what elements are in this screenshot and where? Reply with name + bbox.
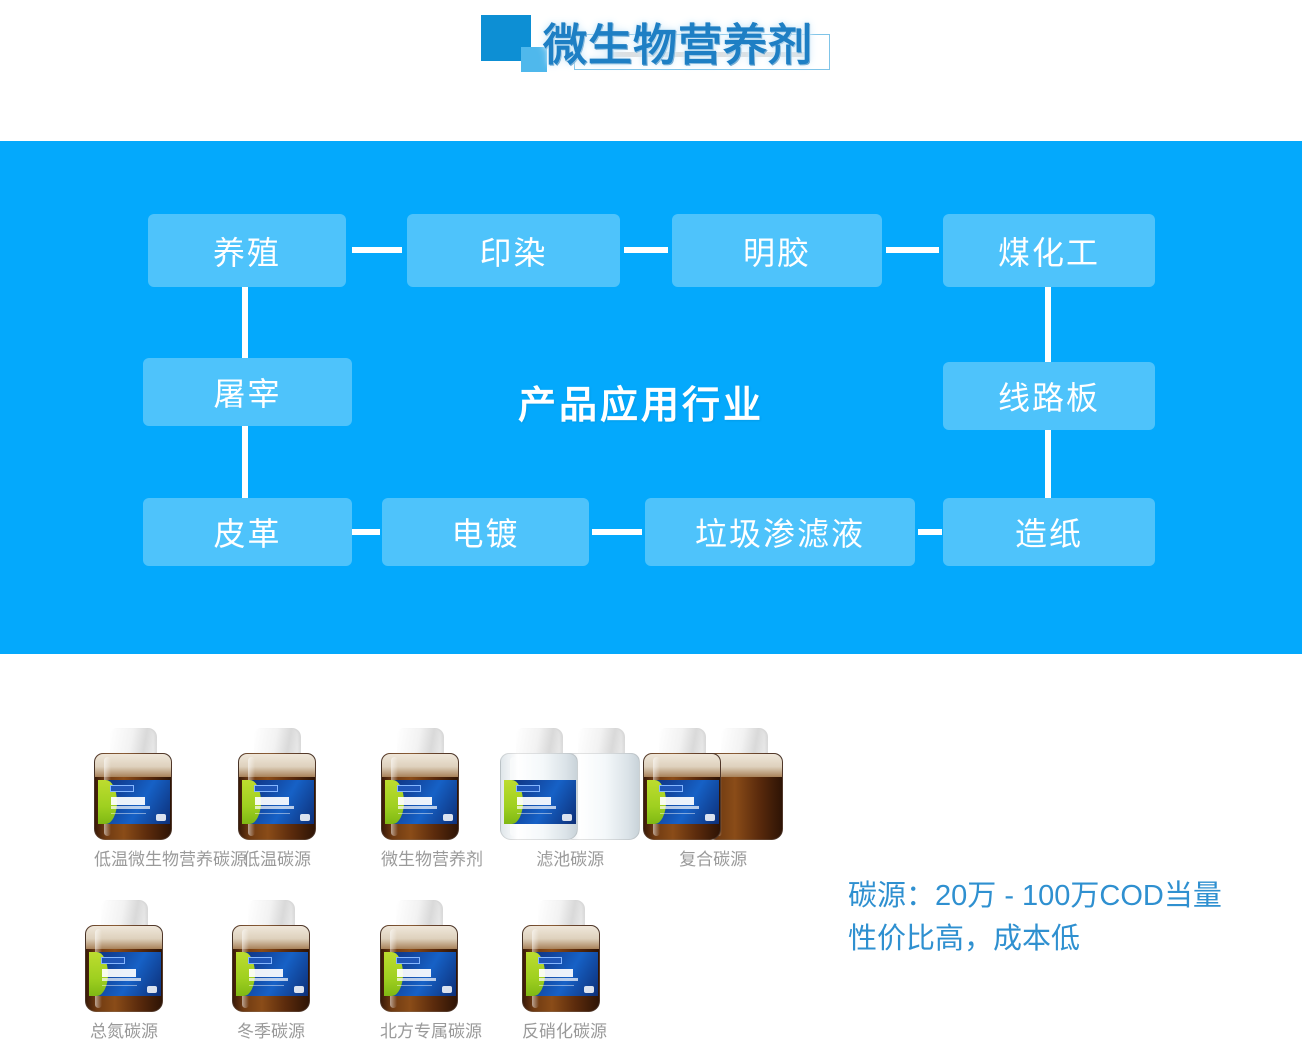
product-bottle <box>94 728 172 840</box>
bottle-label-sub <box>111 806 150 809</box>
product-bottle <box>380 900 458 1012</box>
bottle-label-sub <box>397 978 436 981</box>
bottle-group <box>500 728 640 840</box>
bottle-label-badge <box>443 814 453 821</box>
bottle-label-badge <box>562 814 572 821</box>
bottle-label-fine <box>660 813 695 815</box>
bottle-label <box>384 952 456 996</box>
bottle-label <box>98 780 170 824</box>
node-connector-line <box>242 426 248 498</box>
bottle-label-logo <box>248 957 272 964</box>
product-item[interactable]: 滤池碳源 <box>500 728 640 840</box>
bottle-label <box>236 952 308 996</box>
bottle-label-sub <box>255 806 294 809</box>
bottle-label-title <box>397 969 452 977</box>
bottle-label-badge <box>147 986 157 993</box>
industry-node[interactable]: 煤化工 <box>943 214 1155 287</box>
node-connector-line <box>624 247 668 253</box>
node-connector-line <box>242 287 248 358</box>
bottle-label <box>242 780 314 824</box>
page-title: 微生物营养剂 <box>543 9 813 73</box>
industry-node[interactable]: 养殖 <box>148 214 346 287</box>
product-caption: 反硝化碳源 <box>522 1017 600 1042</box>
bottle-group <box>380 900 458 1012</box>
bottle-label-logo <box>659 785 683 792</box>
bottle-label-title <box>102 969 157 977</box>
bottle-label-badge <box>584 986 594 993</box>
industry-node[interactable]: 皮革 <box>143 498 352 566</box>
node-connector-line <box>886 247 939 253</box>
bottle-group <box>94 728 172 840</box>
bottle-label-fine <box>255 813 290 815</box>
bottle-label <box>385 780 457 824</box>
bottle-label-logo <box>254 785 278 792</box>
callout-line-1: 碳源：20万 - 100万COD当量 <box>848 875 1222 918</box>
product-caption: 滤池碳源 <box>500 845 640 870</box>
bottle-label-fine <box>397 985 432 987</box>
bottle-label-sub <box>517 806 556 809</box>
bottle-group <box>381 728 459 840</box>
bottle-label-fine <box>111 813 146 815</box>
industry-node[interactable]: 造纸 <box>943 498 1155 566</box>
bottle-label-badge <box>294 986 304 993</box>
industry-node[interactable]: 印染 <box>407 214 620 287</box>
bottle-label-title <box>111 797 166 805</box>
bottle-label-logo <box>516 785 540 792</box>
industry-node[interactable]: 电镀 <box>382 498 589 566</box>
node-connector-line <box>1045 287 1051 362</box>
product-bottle <box>500 728 578 840</box>
product-caption: 低温碳源 <box>238 845 316 870</box>
bottle-label-title <box>398 797 453 805</box>
industry-node-label: 垃圾渗滤液 <box>695 509 865 555</box>
application-industries-panel: 养殖印染明胶煤化工屠宰线路板皮革电镀垃圾渗滤液造纸 产品应用行业 <box>0 141 1302 654</box>
bottle-label-title <box>249 969 304 977</box>
bottle-label-logo <box>110 785 134 792</box>
product-item[interactable]: 复合碳源 <box>643 728 783 840</box>
node-connector-line <box>352 529 380 535</box>
bottle-group <box>522 900 600 1012</box>
bottle-body <box>522 925 600 1012</box>
bottle-label-title <box>539 969 594 977</box>
industry-node-label: 煤化工 <box>998 228 1100 274</box>
product-caption: 北方专属碳源 <box>380 1017 458 1042</box>
bottle-body <box>643 753 721 840</box>
bottle-label-logo <box>397 785 421 792</box>
product-bottle <box>85 900 163 1012</box>
bottle-label-fine <box>517 813 552 815</box>
bottle-label-sub <box>102 978 141 981</box>
bottle-label <box>504 780 576 824</box>
industry-node[interactable]: 线路板 <box>943 362 1155 430</box>
bottle-group <box>232 900 310 1012</box>
industry-node-label: 屠宰 <box>213 369 281 415</box>
industry-node-label: 印染 <box>479 228 547 274</box>
bottle-body <box>380 925 458 1012</box>
product-gallery: 低温微生物营养碳源低温碳源微生物营养剂滤池碳源复合碳源 总氮碳源冬季碳源北方专属… <box>0 654 1302 1045</box>
bottle-label-title <box>660 797 715 805</box>
bottle-group <box>85 900 163 1012</box>
bottle-label-title <box>255 797 310 805</box>
product-item[interactable]: 总氮碳源 <box>85 900 163 1012</box>
bottle-label <box>89 952 161 996</box>
bottle-body <box>500 753 578 840</box>
industry-node[interactable]: 屠宰 <box>143 358 352 426</box>
product-bottle <box>643 728 721 840</box>
bottle-label-badge <box>442 986 452 993</box>
bottle-group <box>238 728 316 840</box>
node-connector-line <box>592 529 642 535</box>
product-item[interactable]: 低温微生物营养碳源 <box>94 728 172 840</box>
bottle-label-title <box>517 797 572 805</box>
product-item[interactable]: 微生物营养剂 <box>381 728 459 840</box>
bottle-label-fine <box>249 985 284 987</box>
product-bottle <box>522 900 600 1012</box>
node-connector-line <box>1045 430 1051 498</box>
bottle-label-fine <box>102 985 137 987</box>
bottle-group <box>643 728 783 840</box>
header-section: 微生物营养剂 <box>0 0 1302 140</box>
bottle-body <box>232 925 310 1012</box>
industry-node-label: 养殖 <box>213 228 281 274</box>
product-bottle <box>232 900 310 1012</box>
bottle-label-badge <box>300 814 310 821</box>
bottle-label <box>526 952 598 996</box>
product-item[interactable]: 反硝化碳源 <box>522 900 600 1012</box>
bottle-label <box>647 780 719 824</box>
node-connector-line <box>918 529 942 535</box>
product-caption: 微生物营养剂 <box>381 845 459 870</box>
bottle-body <box>85 925 163 1012</box>
bottle-label-badge <box>156 814 166 821</box>
industry-node-label: 明胶 <box>743 228 811 274</box>
product-caption: 复合碳源 <box>643 845 783 870</box>
bottle-body <box>381 753 459 840</box>
page-root: 微生物营养剂 养殖印染明胶煤化工屠宰线路板皮革电镀垃圾渗滤液造纸 产品应用行业 … <box>0 0 1302 1045</box>
industry-node-label: 电镀 <box>451 509 519 555</box>
bottle-label-badge <box>705 814 715 821</box>
panel-center-title: 产品应用行业 <box>518 374 764 429</box>
product-caption: 总氮碳源 <box>85 1017 163 1042</box>
product-bottle <box>238 728 316 840</box>
product-bottle <box>381 728 459 840</box>
callout-line-2: 性价比高，成本低 <box>848 918 1222 961</box>
bottle-label-logo <box>396 957 420 964</box>
bottle-label-sub <box>249 978 288 981</box>
product-item[interactable]: 低温碳源 <box>238 728 316 840</box>
bottle-body <box>94 753 172 840</box>
bottle-label-logo <box>538 957 562 964</box>
industry-node-label: 造纸 <box>1015 509 1083 555</box>
product-caption: 冬季碳源 <box>232 1017 310 1042</box>
industry-node[interactable]: 明胶 <box>672 214 882 287</box>
bottle-body <box>238 753 316 840</box>
bottle-label-logo <box>101 957 125 964</box>
product-item[interactable]: 冬季碳源 <box>232 900 310 1012</box>
industry-node-label: 线路板 <box>998 373 1100 419</box>
node-connector-line <box>352 247 402 253</box>
bottle-label-sub <box>398 806 437 809</box>
bottle-label-fine <box>539 985 574 987</box>
product-item[interactable]: 北方专属碳源 <box>380 900 458 1012</box>
bottle-label-sub <box>539 978 578 981</box>
industry-node-label: 皮革 <box>213 509 281 555</box>
product-caption: 低温微生物营养碳源 <box>94 845 172 870</box>
bottle-label-sub <box>660 806 699 809</box>
callout-text: 碳源：20万 - 100万COD当量 性价比高，成本低 <box>848 875 1222 961</box>
bottle-label-fine <box>398 813 433 815</box>
industry-node[interactable]: 垃圾渗滤液 <box>645 498 915 566</box>
